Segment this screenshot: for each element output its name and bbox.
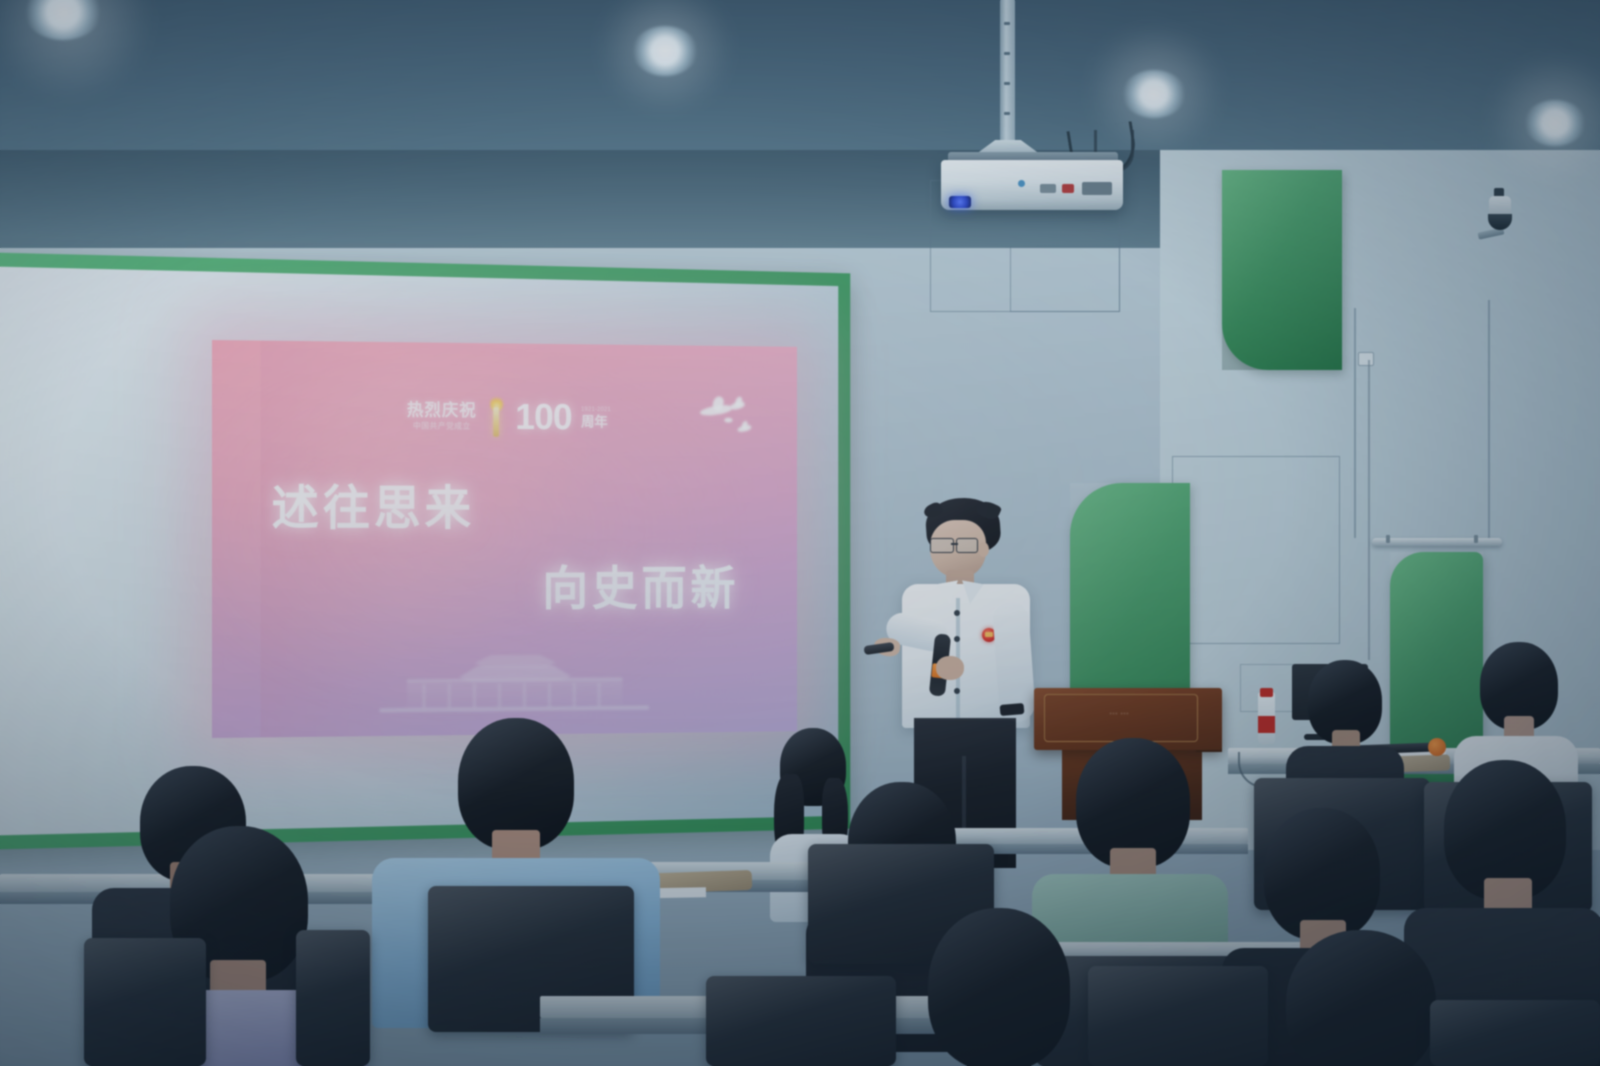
- downlight-3-icon: [1122, 70, 1186, 118]
- lectern-gold-trim-panel: [1044, 694, 1198, 742]
- wall-seam: [1488, 300, 1490, 540]
- head: [1286, 930, 1436, 1066]
- projector-port-red: [1062, 184, 1074, 193]
- chair[interactable]: [84, 938, 206, 1066]
- green-panel-upper-right: [1222, 170, 1342, 370]
- projector-port-hdmi: [1082, 182, 1112, 195]
- lectern-plate-text: ……: [1044, 706, 1196, 716]
- projector-port: [1040, 184, 1056, 193]
- microphone-windscreen-icon: [1428, 738, 1446, 756]
- curtain-rail: [1372, 538, 1502, 546]
- eyeglasses-icon: [930, 538, 954, 553]
- ceiling-access-panel-inner: [1010, 246, 1120, 312]
- wall-outlet[interactable]: [1358, 352, 1374, 366]
- wristwatch-icon: [1000, 703, 1025, 716]
- wall-outline-box: [1172, 456, 1340, 644]
- bottle-cap-icon: [1260, 688, 1273, 697]
- downlight-2-icon: [632, 26, 698, 76]
- projector-mount-pole: [1000, 0, 1015, 150]
- chair[interactable]: [706, 976, 896, 1066]
- chair[interactable]: [1088, 966, 1268, 1066]
- chair[interactable]: [1430, 1000, 1600, 1066]
- classroom-photo-scene: 热烈庆祝 中国共产党成立 100 1921-2021 周年 述往思来 向史而新: [0, 0, 1600, 1066]
- projected-slide: 热烈庆祝 中国共产党成立 100 1921-2021 周年 述往思来 向史而新: [212, 340, 797, 738]
- chair[interactable]: [296, 930, 370, 1066]
- wall-cable: [1368, 360, 1370, 660]
- projector-power-led-icon: [949, 196, 971, 208]
- wall-seam: [1354, 308, 1356, 538]
- slide-light-wash: [212, 340, 797, 738]
- student-foreground-center: [876, 908, 1116, 1066]
- head: [928, 908, 1070, 1066]
- downlight-4-icon: [1524, 100, 1586, 146]
- presenter-right-hand: [936, 656, 964, 680]
- projector-indicator-icon: [1018, 180, 1025, 187]
